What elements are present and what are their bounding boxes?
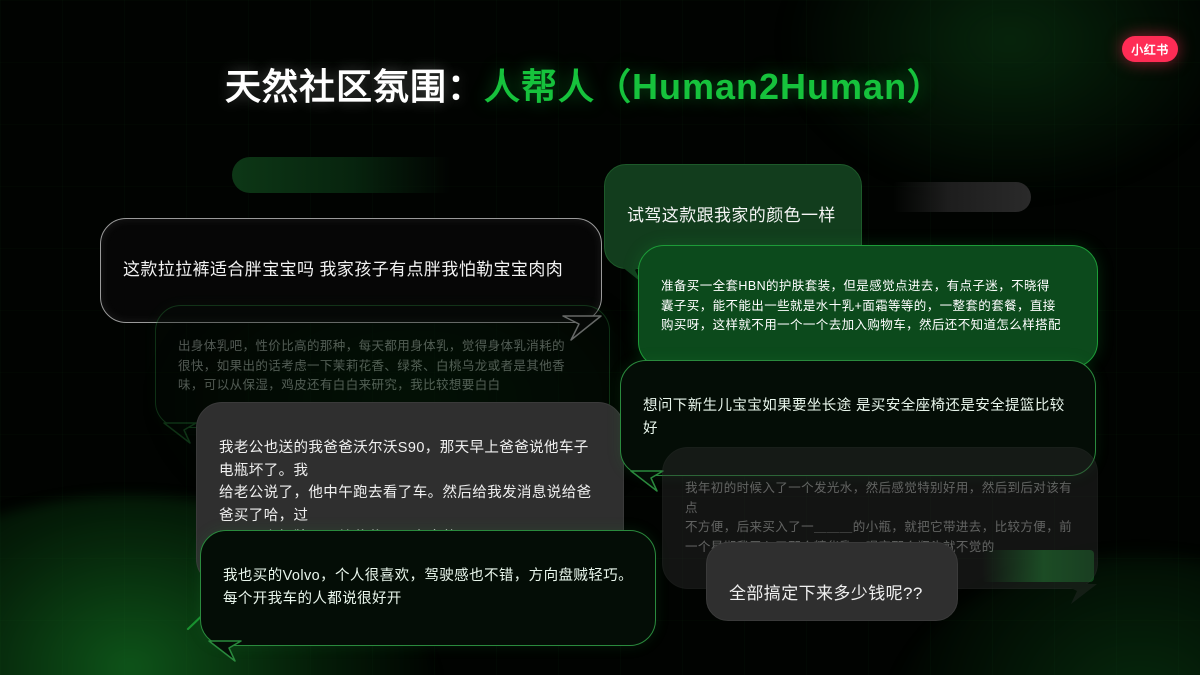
chat-bubble-total-price-question[interactable]: 全部搞定下来多少钱呢?? xyxy=(706,542,958,621)
chat-bubble-hbn-skincare-set[interactable]: 准备买一全套HBN的护肤套装，但是感觉点进去，有点子迷，不晓得 囊子买，能不能出… xyxy=(638,245,1098,368)
chat-bubble-text: 全部搞定下来多少钱呢?? xyxy=(729,584,923,603)
page-title-en: 人帮人（Human2Human） xyxy=(484,66,944,107)
slide-canvas: 天然社区氛围：人帮人（Human2Human） 小红书 这款拉拉裤适合胖宝宝吗 … xyxy=(0,0,1200,675)
xiaohongshu-logo: 小红书 xyxy=(1122,36,1178,62)
chat-bubble-text: 我也买的Volvo，个人很喜欢，驾驶感也不错，方向盘贼轻巧。 每个开我车的人都说… xyxy=(223,568,633,606)
chat-bubble-text: 出身体乳吧，性价比高的那种，每天都用身体乳，觉得身体乳消耗的 很快，如果出的话考… xyxy=(178,339,565,392)
chat-bubble-text: 试驾这款跟我家的颜色一样 xyxy=(627,206,836,225)
bubble-tail-icon xyxy=(160,421,200,447)
chat-bubble-text: 准备买一全套HBN的护肤套装，但是感觉点进去，有点子迷，不晓得 囊子买，能不能出… xyxy=(661,279,1061,332)
chat-bubble-text: 这款拉拉裤适合胖宝宝吗 我家孩子有点胖我怕勒宝宝肉肉 xyxy=(123,260,563,279)
page-title: 天然社区氛围：人帮人（Human2Human） xyxy=(225,58,944,110)
ghost-bubble-top-left xyxy=(232,157,450,193)
bubble-tail-icon xyxy=(627,469,667,495)
bubble-tail-icon xyxy=(1059,582,1099,608)
bubble-tail-icon xyxy=(205,639,245,665)
chat-bubble-volvo-review[interactable]: 我也买的Volvo，个人很喜欢，驾驶感也不错，方向盘贼轻巧。 每个开我车的人都说… xyxy=(200,530,656,646)
page-title-zh: 天然社区氛围： xyxy=(225,66,484,107)
ghost-bubble-top-right xyxy=(893,182,1031,212)
logo-label: 小红书 xyxy=(1131,41,1169,58)
chat-bubble-text: 想问下新生儿宝宝如果要坐长途 是买安全座椅还是安全提篮比较好 xyxy=(643,398,1065,436)
